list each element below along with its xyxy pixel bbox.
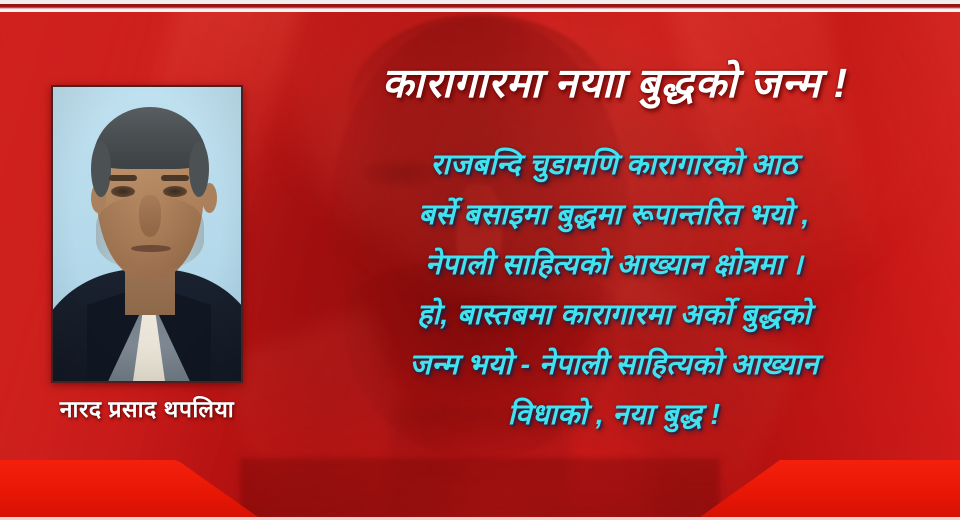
bottom-center-shade [240,458,720,520]
body-line: नेपाली साहित्यको आख्यान क्षोत्रमा । [288,240,940,290]
author-name-caption: नारद प्रसाद थपलिया [0,392,294,424]
poster-body-text: राजबन्दि चुडामणि कारागारको आठ बर्से बसाइ… [288,140,940,440]
body-line: जन्म भयो - नेपाली साहित्यको आख्यान [288,340,940,390]
poster-headline: कारागारमा नयाा बुद्धको जन्म ! [290,60,940,107]
portrait-vignette [53,87,241,381]
author-portrait [51,85,243,383]
body-line: बर्से बसाइमा बुद्धमा रूपान्तरित भयो , [288,190,940,240]
poster-banner: नारद प्रसाद थपलिया कारागारमा नयाा बुद्धक… [0,0,960,520]
body-line: विधाको , नया बुद्ध ! [288,390,940,440]
top-white-rule [0,9,960,12]
body-line: हो, बास्तबमा कारागारमा अर्को बुद्धको [288,290,940,340]
body-line: राजबन्दि चुडामणि कारागारको आठ [288,140,940,190]
portrait-frame [51,85,243,383]
